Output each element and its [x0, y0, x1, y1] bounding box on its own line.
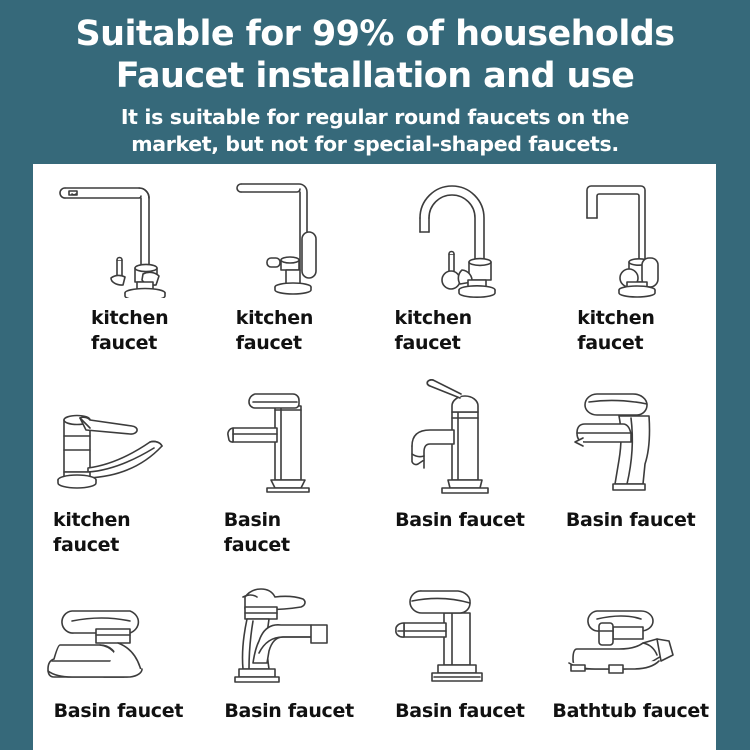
faucet-cell-2-2: Basin faucet	[204, 372, 375, 572]
faucet-cell-2-4: Basin faucet	[545, 372, 716, 572]
faucet-label: Basin faucet	[33, 699, 204, 724]
faucet-cell-3-3: Basin faucet	[375, 579, 546, 744]
subheadline-line-1: It is suitable for regular round faucets…	[0, 104, 750, 130]
basin-faucet-round-pin-lever-icon	[375, 372, 546, 500]
kitchen-faucet-l-spout-side-lever-icon	[204, 170, 375, 298]
headline-line-1: Suitable for 99% of households	[0, 14, 750, 55]
faucet-cell-2-1: kitchen faucet	[33, 372, 204, 572]
faucet-cell-2-3: Basin faucet	[375, 372, 546, 572]
header-block: Suitable for 99% of households Faucet in…	[0, 0, 750, 157]
faucet-cell-3-1: Basin faucet	[33, 579, 204, 744]
faucet-label: kitchen faucet	[545, 306, 716, 355]
faucet-cell-3-2: Basin faucet	[204, 579, 375, 744]
basin-faucet-classic-curve-icon	[204, 579, 375, 691]
subheadline-line-2: market, but not for special-shaped fauce…	[0, 131, 750, 157]
basin-faucet-square-body-icon	[204, 372, 375, 500]
kitchen-faucet-swivel-spout-icon	[33, 372, 204, 500]
basin-faucet-modern-flat-icon	[375, 579, 546, 691]
bathtub-faucet-diverter-icon	[545, 579, 716, 691]
faucet-grid-panel: kitchen faucet	[33, 164, 716, 750]
faucet-label: Basin faucet	[545, 508, 716, 533]
faucet-label: Basin faucet	[375, 508, 546, 533]
faucet-label: kitchen faucet	[33, 508, 204, 557]
faucet-label: Bathtub faucet	[545, 699, 716, 724]
basin-faucet-curved-body-icon	[545, 372, 716, 500]
faucet-label: Basin faucet	[375, 699, 546, 724]
faucet-row-2: kitchen faucet	[33, 372, 716, 572]
faucet-row-1: kitchen faucet	[33, 170, 716, 366]
faucet-row-3: Basin faucet	[33, 579, 716, 744]
faucet-label: Basin faucet	[204, 508, 375, 557]
basin-faucet-low-profile-icon	[33, 579, 204, 691]
faucet-cell-1-2: kitchen faucet	[204, 170, 375, 366]
kitchen-faucet-gooseneck-icon	[375, 170, 546, 298]
faucet-label: kitchen faucet	[204, 306, 375, 355]
headline-line-2: Faucet installation and use	[0, 56, 750, 97]
faucet-cell-3-4: Bathtub faucet	[545, 579, 716, 744]
faucet-label: kitchen faucet	[375, 306, 546, 355]
kitchen-faucet-l-spout-dual-handle-icon	[33, 170, 204, 298]
kitchen-faucet-square-u-spout-icon	[545, 170, 716, 298]
infographic-page: Suitable for 99% of households Faucet in…	[0, 0, 750, 750]
faucet-label: Basin faucet	[204, 699, 375, 724]
faucet-cell-1-1: kitchen faucet	[33, 170, 204, 366]
faucet-label: kitchen faucet	[33, 306, 204, 355]
faucet-cell-1-4: kitchen faucet	[545, 170, 716, 366]
faucet-cell-1-3: kitchen faucet	[375, 170, 546, 366]
